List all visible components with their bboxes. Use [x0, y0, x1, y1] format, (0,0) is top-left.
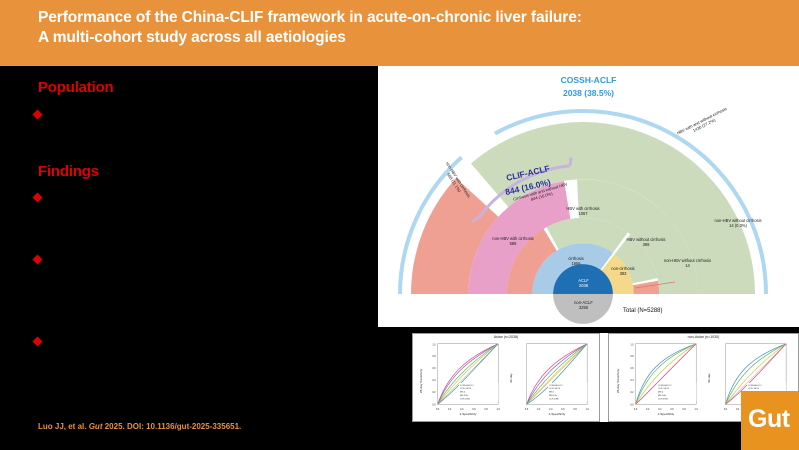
citation-year: 2025.	[105, 422, 125, 431]
page-title-line1: Performance of the China-CLIF framework …	[38, 8, 778, 28]
label-non-aclf-value: 3250	[556, 305, 611, 310]
svg-text:COSSH-ACLF II: COSSH-ACLF II	[658, 384, 672, 387]
svg-text:0.4: 0.4	[658, 409, 662, 411]
svg-text:1.0: 1.0	[497, 409, 501, 411]
citation-journal: Gut	[89, 422, 103, 431]
label-hbv-with-cirrhosis-value: 1067	[543, 211, 623, 216]
svg-text:CLIF-C ACLF: CLIF-C ACLF	[748, 387, 760, 390]
bullet-findings-3	[33, 337, 43, 347]
svg-text:0.6: 0.6	[472, 409, 476, 411]
bullet-population-1	[33, 110, 43, 120]
label-non-cirrhosis-value: 383	[593, 271, 653, 276]
svg-text:MELD-Na: MELD-Na	[549, 395, 558, 397]
bullet-findings-1	[33, 193, 43, 203]
label-cossh-name: COSSH-ACLF	[378, 75, 799, 86]
svg-text:1.0: 1.0	[586, 409, 590, 411]
svg-text:0.8: 0.8	[484, 409, 488, 411]
svg-text:COSSH-ACLF II: COSSH-ACLF II	[549, 384, 563, 387]
svg-text:COSSH-ACLF II: COSSH-ACLF II	[748, 384, 762, 387]
svg-text:0.4: 0.4	[549, 409, 553, 411]
svg-text:0.0: 0.0	[525, 409, 529, 411]
citation: Luo JJ, et al. Gut 2025. DOI: 10.1136/gu…	[38, 422, 241, 431]
svg-text:0.2: 0.2	[736, 409, 740, 411]
svg-text:0.2: 0.2	[646, 409, 650, 411]
svg-text:0.2: 0.2	[432, 392, 436, 394]
svg-text:0.0: 0.0	[432, 404, 436, 406]
svg-text:COSSH-ACLF II: COSSH-ACLF II	[460, 384, 474, 387]
svg-text:1.0: 1.0	[432, 345, 436, 347]
svg-text:0.2: 0.2	[537, 409, 541, 411]
svg-text:1.0: 1.0	[695, 409, 699, 411]
main-figure-panel: COSSH-ACLF 2038 (38.5%) CLIF-ACLF 844 (1…	[378, 66, 799, 327]
roc-panel-asian: Asian (n=2038) 0.0 0.2 0.4 0.6 0.8 1.0	[412, 333, 600, 422]
label-hbv-without-cirrhosis-value: 369	[606, 242, 686, 247]
svg-text:0.6: 0.6	[432, 368, 436, 370]
citation-doi: DOI: 10.1136/gut-2025-335651.	[127, 422, 241, 431]
svg-text:MELD: MELD	[460, 392, 466, 394]
svg-text:0.4: 0.4	[460, 409, 464, 411]
svg-text:0.0: 0.0	[724, 409, 728, 411]
label-nonhbv-without-cirrhosis-value: 14	[645, 263, 730, 268]
label-nonhbv-without-cirrhosis-outer-value: 14 (0.3%)	[678, 223, 798, 228]
svg-text:CLIF-SOFA: CLIF-SOFA	[549, 397, 559, 400]
svg-text:0.8: 0.8	[573, 409, 577, 411]
citation-authors: Luo JJ, et al.	[38, 422, 86, 431]
label-total: Total (N=5288)	[623, 308, 743, 316]
label-cossh-value: 2038 (38.5%)	[378, 88, 799, 99]
svg-text:MELD-Na: MELD-Na	[658, 395, 667, 397]
section-heading-findings: Findings	[38, 163, 99, 180]
page-title: Performance of the China-CLIF framework …	[38, 8, 778, 49]
svg-text:28-day Sensitivity: 28-day Sensitivity	[616, 368, 620, 393]
label-nonhbv-with-cirrhosis-value: 588	[473, 241, 553, 246]
svg-text:CLIF-SOFA: CLIF-SOFA	[460, 397, 470, 400]
svg-text:0.8: 0.8	[432, 356, 436, 358]
svg-text:MELD-Na: MELD-Na	[460, 395, 469, 397]
label-aclf-value: 2038	[556, 283, 611, 288]
bullet-findings-2	[33, 255, 43, 265]
svg-text:0.0: 0.0	[436, 409, 440, 411]
svg-text:MELD: MELD	[549, 392, 555, 394]
svg-text:CLIF-SOFA: CLIF-SOFA	[658, 397, 668, 400]
svg-text:90-day: 90-day	[509, 373, 513, 383]
svg-text:1.0: 1.0	[630, 345, 634, 347]
svg-text:0.4: 0.4	[630, 380, 634, 382]
svg-text:0.4: 0.4	[432, 380, 436, 382]
svg-text:0.0: 0.0	[634, 409, 638, 411]
svg-text:CLIF-C ACLF: CLIF-C ACLF	[460, 387, 472, 390]
svg-text:MELD: MELD	[658, 392, 664, 394]
left-content-column: Population Findings	[0, 66, 378, 450]
svg-text:CLIF-C ACLF: CLIF-C ACLF	[549, 387, 561, 390]
page-title-line2: A multi-cohort study across all aetiolog…	[38, 28, 778, 48]
svg-text:0.6: 0.6	[670, 409, 674, 411]
svg-text:28-day Sensitivity: 28-day Sensitivity	[419, 368, 423, 393]
svg-text:90-day: 90-day	[707, 373, 711, 383]
svg-text:1-Specificity: 1-Specificity	[459, 412, 476, 416]
svg-text:0.6: 0.6	[561, 409, 565, 411]
gut-logo-text: Gut	[748, 405, 790, 434]
gut-journal-logo: Gut	[741, 391, 799, 450]
svg-text:CLIF-C ACLF: CLIF-C ACLF	[658, 387, 670, 390]
svg-text:0.8: 0.8	[630, 356, 634, 358]
header-banner: Performance of the China-CLIF framework …	[0, 0, 799, 66]
svg-text:0.2: 0.2	[448, 409, 452, 411]
svg-text:0.2: 0.2	[630, 392, 634, 394]
section-heading-population: Population	[38, 79, 114, 96]
svg-text:0.0: 0.0	[630, 404, 634, 406]
roc-charts-asian: 0.0 0.2 0.4 0.6 0.8 1.0 0.0 0.2 0.4 0.6 …	[413, 334, 599, 421]
svg-text:1-Specificity: 1-Specificity	[548, 412, 565, 416]
svg-text:0.6: 0.6	[630, 368, 634, 370]
svg-text:0.8: 0.8	[682, 409, 686, 411]
svg-text:1-Specificity: 1-Specificity	[657, 412, 674, 416]
